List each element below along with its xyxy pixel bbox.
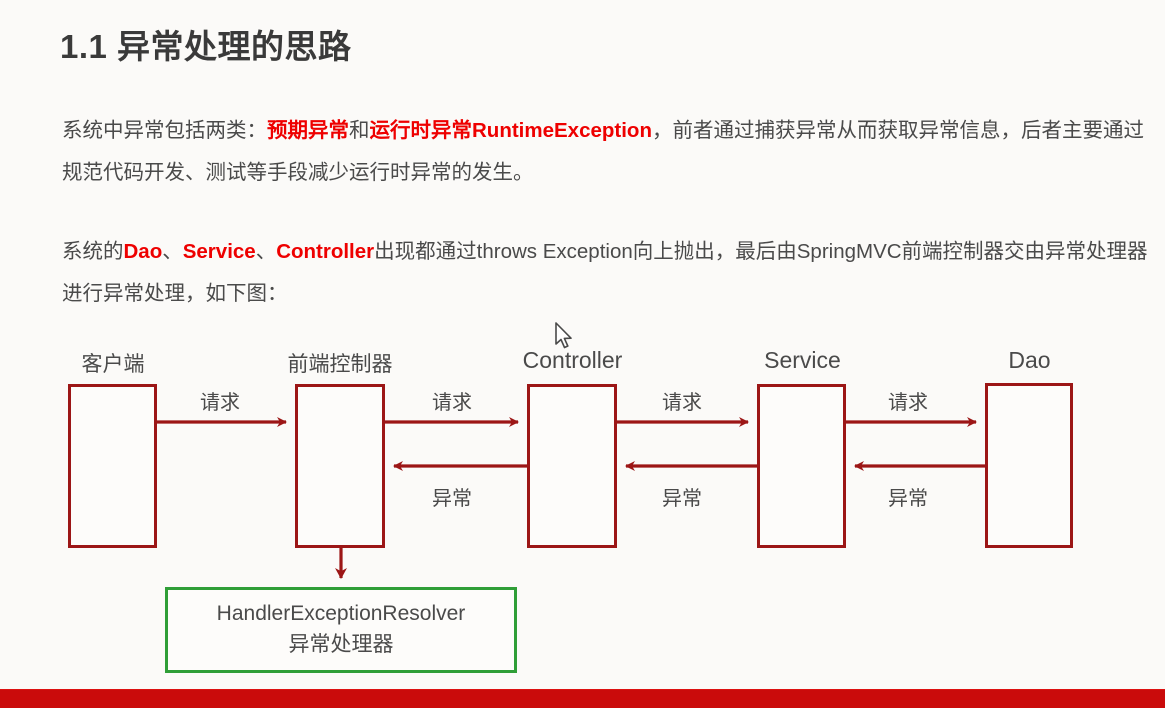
- node-box-dao[interactable]: [985, 383, 1073, 548]
- node-label-client: 客户端: [48, 348, 178, 378]
- edge-label-exception-dao-service: 异常: [868, 482, 948, 511]
- node-label-front-controller: 前端控制器: [275, 348, 405, 378]
- edge-label-exception-controller-front: 异常: [412, 482, 492, 511]
- edge-label-request-service-dao: 请求: [868, 386, 948, 415]
- bottom-accent-bar: [0, 689, 1165, 708]
- node-box-handler-exception-resolver[interactable]: HandlerExceptionResolver 异常处理器: [165, 587, 517, 673]
- edge-label-request-client-front: 请求: [180, 386, 260, 415]
- node-box-controller[interactable]: [527, 384, 617, 548]
- node-box-service[interactable]: [757, 384, 846, 548]
- mouse-cursor-icon: [554, 322, 576, 352]
- node-box-front-controller[interactable]: [295, 384, 385, 548]
- handler-class-name: HandlerExceptionResolver: [217, 602, 466, 626]
- node-label-service: Service: [735, 347, 870, 374]
- node-box-client[interactable]: [68, 384, 157, 548]
- exception-flow-diagram: 客户端 前端控制器 Controller Service Dao 请求 请求 请…: [0, 0, 1165, 708]
- node-label-dao: Dao: [962, 347, 1097, 374]
- edge-label-request-front-controller: 请求: [412, 386, 492, 415]
- edge-label-request-controller-service: 请求: [642, 386, 722, 415]
- edge-label-exception-service-controller: 异常: [642, 482, 722, 511]
- handler-chinese-name: 异常处理器: [289, 628, 394, 658]
